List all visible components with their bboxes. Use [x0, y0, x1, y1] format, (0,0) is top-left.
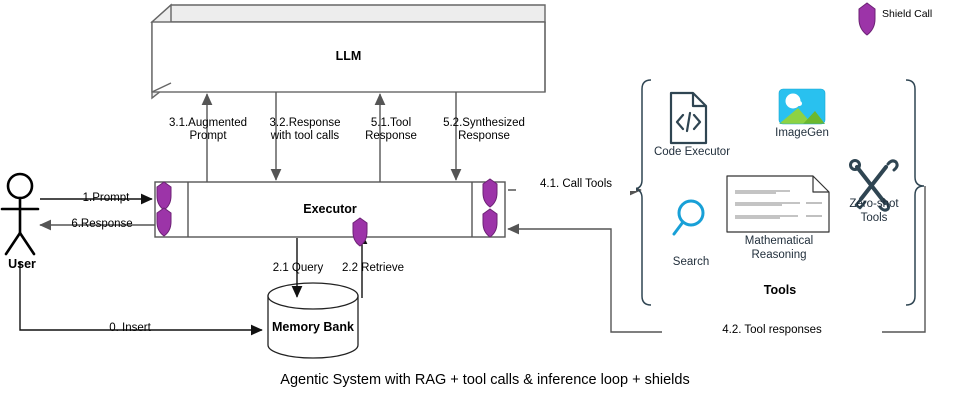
tool-label-code-executor: Code Executor — [644, 146, 740, 160]
formula-document-icon — [727, 176, 829, 232]
code-document-icon — [671, 93, 706, 143]
diagram-canvas: LLM Executor Memory Bank User 1.Prompt 6… — [0, 0, 970, 411]
tools-group-label: Tools — [720, 283, 840, 297]
legend-shield-label: Shield Call — [882, 8, 932, 20]
tool-label-search: Search — [658, 256, 724, 270]
edge-label-call-tools: 4.1. Call Tools — [516, 178, 636, 191]
memory-bank-label: Memory Bank — [268, 320, 358, 334]
edge-label-retrieve: 2.2 Retrieve — [318, 262, 428, 275]
user-actor-shape — [2, 174, 38, 254]
edge-label-tool-responses: 4.2. Tool responses — [662, 324, 882, 337]
diagram-caption: Agentic System with RAG + tool calls & i… — [0, 372, 970, 388]
shield-icon-legend — [859, 3, 875, 35]
tool-label-math-reasoning: Mathematical Reasoning — [731, 235, 827, 262]
edge-label-insert: 0. Insert — [60, 322, 200, 335]
edge-label-response: 6.Response — [52, 218, 152, 231]
tool-label-zero-shot-tools: Zero-shot Tools — [838, 198, 910, 225]
tool-label-image-gen: ImageGen — [760, 127, 844, 141]
edge-label-synthesized-response: 5.2.Synthesized Response — [414, 117, 554, 143]
edge-insert — [20, 262, 262, 330]
edge-label-prompt: 1.Prompt — [56, 192, 156, 205]
llm-label: LLM — [152, 49, 545, 63]
tools-group-brace-right — [906, 80, 924, 305]
user-label: User — [0, 257, 44, 271]
shield-icon-executor-memory — [353, 218, 367, 246]
tools-group-brace-left — [633, 80, 651, 305]
executor-label: Executor — [188, 202, 472, 216]
magnifier-icon — [674, 201, 703, 234]
image-generation-icon — [779, 89, 825, 124]
